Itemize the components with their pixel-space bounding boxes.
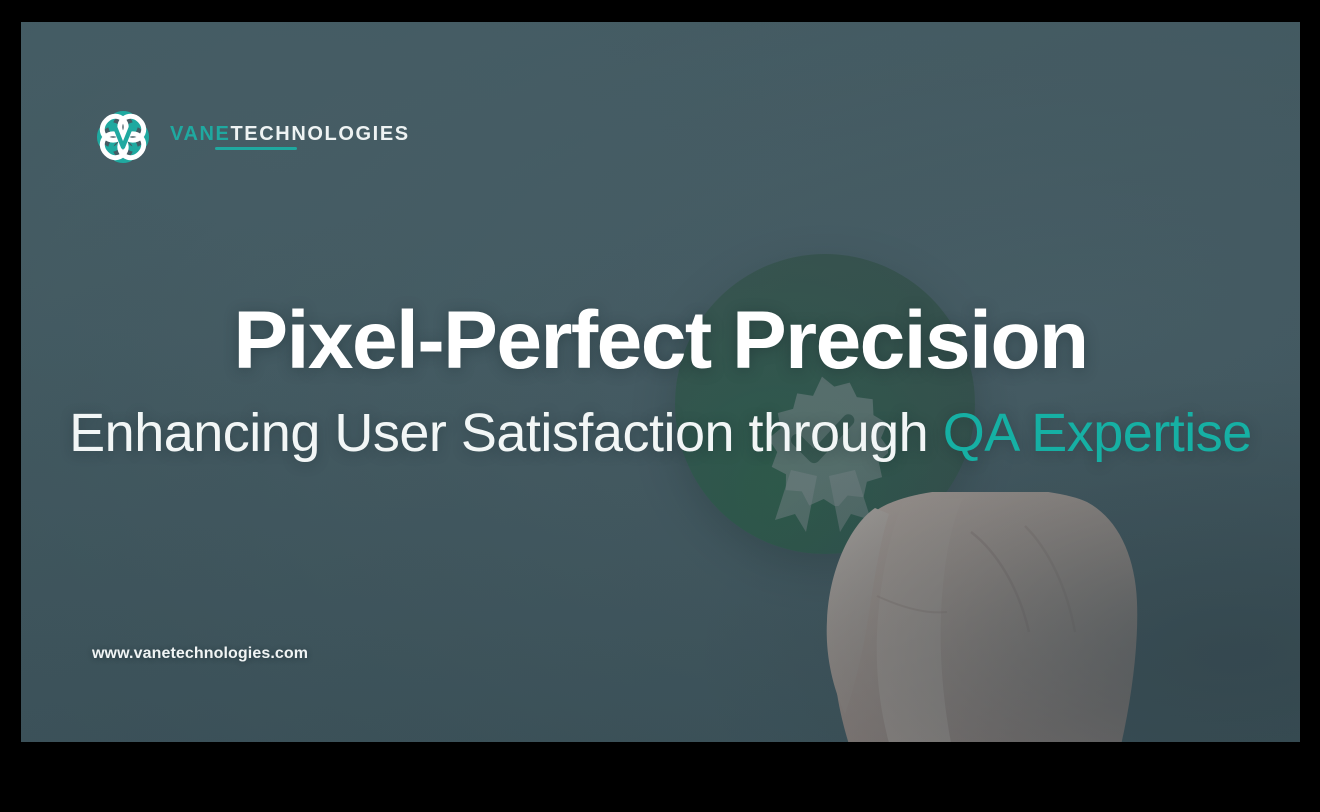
wordmark-technologies: TECHNOLOGIES <box>230 123 409 145</box>
site-url[interactable]: www.vanetechnologies.com <box>92 645 308 663</box>
wordmark-underline <box>215 147 297 150</box>
atom-flower-icon <box>92 106 154 168</box>
slide-subheadline: Enhancing User Satisfaction through QA E… <box>21 404 1300 463</box>
screenshot-canvas: VANETECHNOLOGIES Pixel-Perfect Precision… <box>0 0 1320 812</box>
presentation-slide: VANETECHNOLOGIES Pixel-Perfect Precision… <box>21 22 1300 742</box>
slide-headline: Pixel-Perfect Precision <box>21 300 1300 382</box>
subheadline-accent: QA Expertise <box>943 403 1252 463</box>
brand-logo[interactable]: VANETECHNOLOGIES <box>92 106 410 168</box>
brand-wordmark: VANETECHNOLOGIES <box>170 124 410 150</box>
headline-block: Pixel-Perfect Precision Enhancing User S… <box>21 300 1300 463</box>
wordmark-vane: VANE <box>170 123 230 145</box>
subheadline-lead: Enhancing User Satisfaction through <box>69 403 943 463</box>
